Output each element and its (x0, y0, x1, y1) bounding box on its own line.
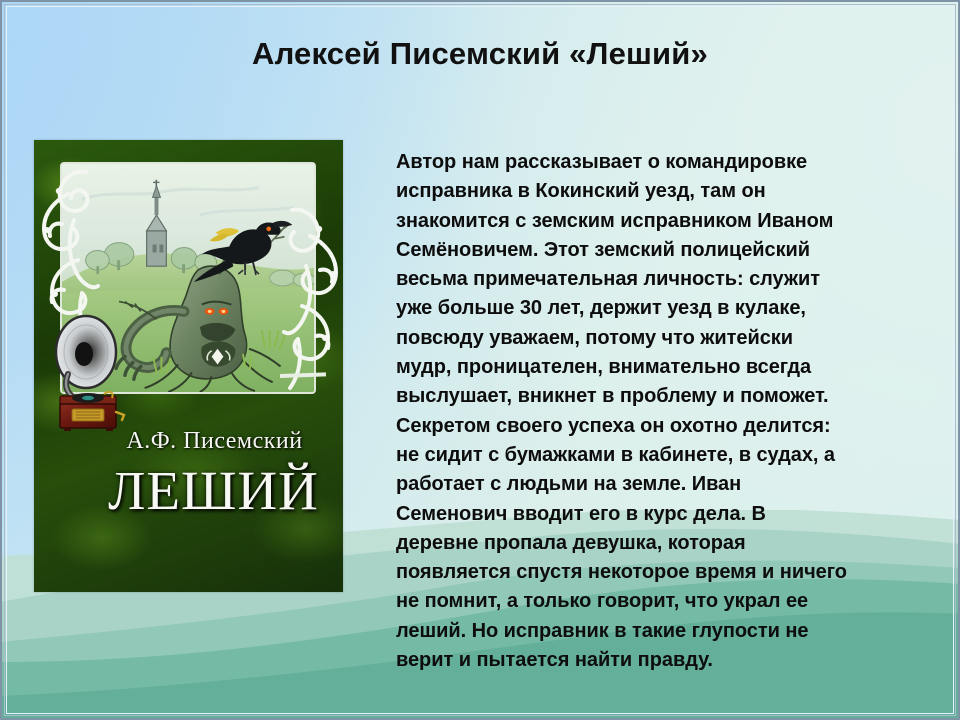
cover-book-title: ЛЕШИЙ (34, 462, 343, 520)
cover-author-name: А.Ф. Писемский (34, 428, 343, 455)
presentation-slide: Алексей Писемский «Леший» (0, 0, 960, 720)
gramophone-icon (46, 308, 132, 432)
slide-body-text: Автор нам рассказывает о командировке ис… (396, 148, 848, 675)
book-cover-image: А.Ф. Писемский ЛЕШИЙ (34, 140, 343, 592)
slide-title: Алексей Писемский «Леший» (120, 36, 840, 72)
book-cover-canvas: А.Ф. Писемский ЛЕШИЙ (34, 140, 343, 592)
